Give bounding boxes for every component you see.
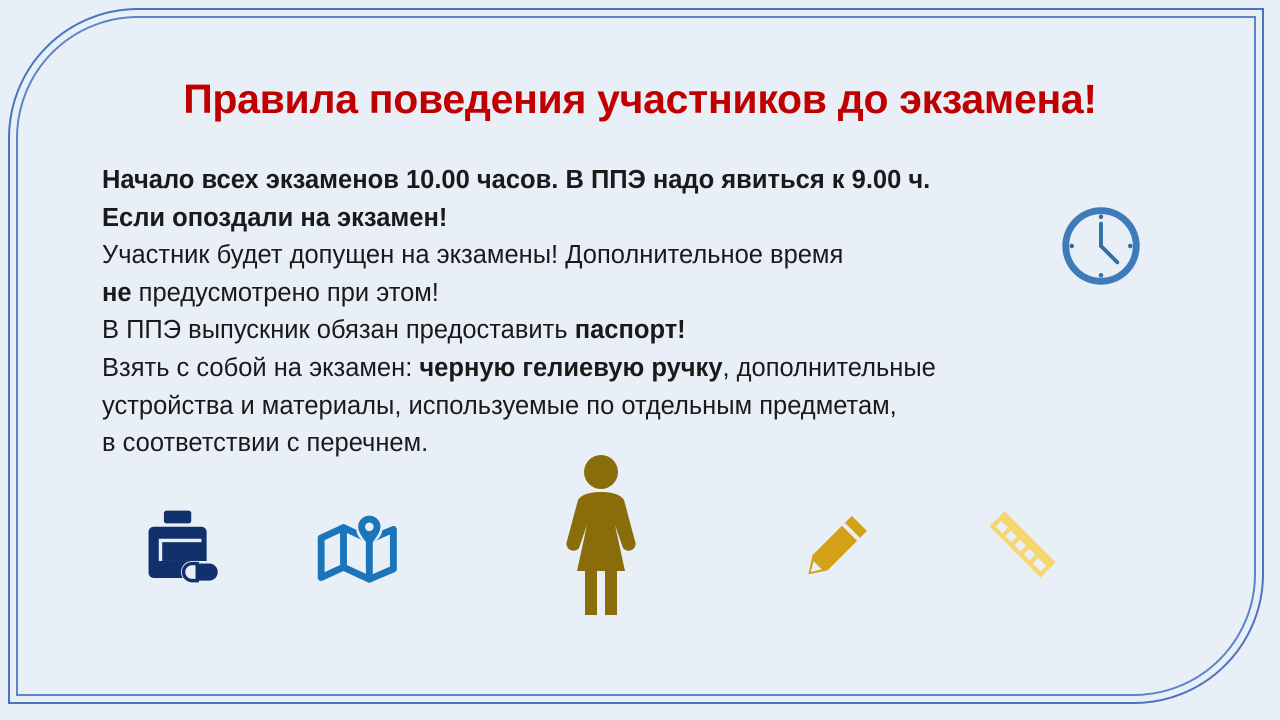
body-line-5: В ППЭ выпускник обязан предоставить пасп…: [102, 312, 1082, 350]
body-line-5-bold: паспорт!: [575, 316, 686, 344]
body-line-3: Участник будет допущен на экзамены! Допо…: [102, 237, 1082, 275]
body-line-6-rest: , дополнительные: [723, 354, 936, 382]
ruler-icon: [980, 500, 1066, 588]
body-line-4: не предусмотрено при этом!: [102, 275, 1082, 313]
person-icon: [563, 453, 639, 615]
pill-bottle-icon: [138, 508, 224, 590]
body-line-4-rest: предусмотрено при этом!: [132, 279, 439, 307]
body-line-5-pre: В ППЭ выпускник обязан предоставить: [102, 316, 575, 344]
body-text: Начало всех экзаменов 10.00 часов. В ППЭ…: [102, 162, 1082, 463]
slide: Правила поведения участников до экзамена…: [0, 0, 1280, 720]
clock-icon: [1058, 203, 1144, 289]
body-line-6: Взять с собой на экзамен: черную гелиеву…: [102, 350, 1082, 388]
body-line-7: устройства и материалы, используемые по …: [102, 388, 1082, 426]
page-title: Правила поведения участников до экзамена…: [0, 76, 1280, 123]
body-line-6-pre: Взять с собой на экзамен:: [102, 354, 419, 382]
body-line-4-bold: не: [102, 279, 132, 307]
body-line-6-bold: черную гелиевую ручку: [419, 354, 722, 382]
map-icon: [316, 512, 402, 588]
body-line-2: Если опоздали на экзамен!: [102, 200, 1082, 238]
body-line-1: Начало всех экзаменов 10.00 часов. В ППЭ…: [102, 162, 1082, 200]
pencil-icon: [790, 505, 872, 587]
